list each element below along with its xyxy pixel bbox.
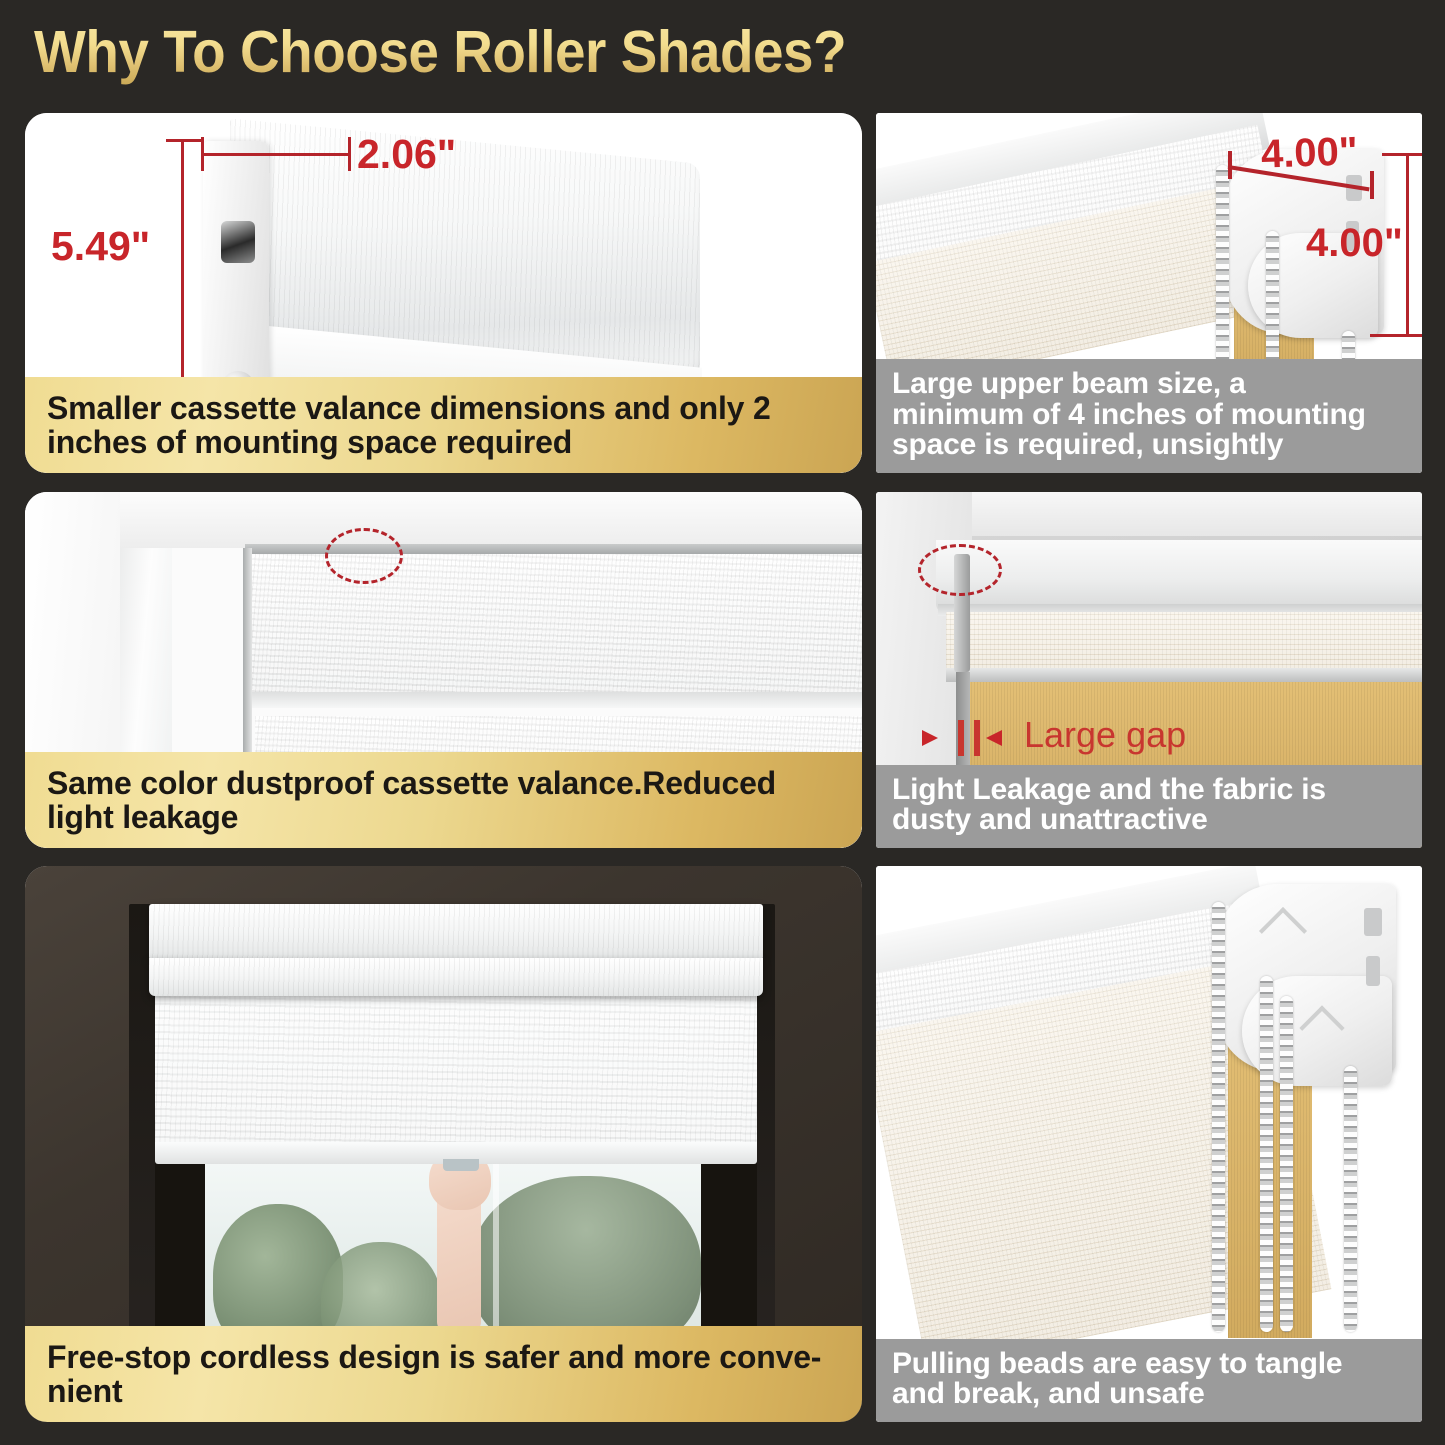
panel-5-caption-line-2: nient (47, 1374, 842, 1408)
panel-4-caption: Light Leakage and the fabric is dusty an… (876, 765, 1422, 848)
leak-highlight-circle (918, 544, 1002, 596)
bead-chain-inner (1280, 996, 1293, 1332)
panel-6-caption-line-1: Pulling beads are easy to tangle (892, 1349, 1408, 1380)
width-dimension-label: 2.06" (357, 131, 456, 178)
bracket-slot-illustration (221, 221, 255, 263)
large-gap-marker-1 (958, 720, 964, 756)
panel-large-upper-beam: 4.00" 4.00" Large upper beam size, a min… (876, 113, 1422, 473)
large-gap-label: Large gap (1024, 714, 1186, 756)
bracket-notch-lower-icon (1366, 956, 1380, 986)
panel-6-caption-line-2: and break, and unsafe (892, 1379, 1408, 1410)
height-dimension-label: 5.49" (51, 223, 150, 270)
window-mullion-illustration (493, 1156, 499, 1344)
rail-bottom-edge (946, 668, 1422, 682)
panel-2-caption-line-1: Large upper beam size, a (892, 369, 1408, 400)
bracket-notch-upper-icon (1364, 908, 1382, 936)
beam-height-dimension-label: 4.00" (1306, 221, 1403, 266)
bead-chain-mid (1260, 976, 1273, 1332)
beam-width-tick-left (1228, 151, 1232, 179)
panel-pulling-beads: Pulling beads are easy to tangle and bre… (876, 866, 1422, 1422)
height-dimension-tick-top (166, 139, 204, 142)
panel-2-caption-line-3: space is required, unsightly (892, 430, 1408, 461)
bead-chain-right (1344, 1066, 1357, 1332)
panel-cassette-valance-dimensions: 2.06" 5.49" Smaller cassette valance dim… (25, 113, 862, 473)
panel-3-caption-line-1: Same color dustproof cassette valance.Re… (47, 766, 842, 800)
tree-right-illustration (471, 1176, 701, 1344)
cassette-valance-illustration (149, 904, 763, 960)
head-rail-illustration (936, 540, 1422, 612)
large-gap-arrow-left-icon (922, 730, 938, 746)
large-gap-marker-2 (974, 720, 980, 756)
large-gap-arrow-right-icon (986, 730, 1002, 746)
panel-free-stop-cordless: Free-stop cordless design is safer and m… (25, 866, 862, 1422)
infographic-page: Why To Choose Roller Shades? 2.06" 5.49"… (0, 0, 1445, 1445)
window-molding-top-illustration (120, 492, 862, 548)
panel-4-caption-line-2: dusty and unattractive (892, 805, 1408, 836)
panel-2-caption-line-2: minimum of 4 inches of mounting (892, 400, 1408, 431)
panel-dustproof-cassette-valance: smaller gap Same color dustproof cassett… (25, 492, 862, 848)
valance-lower-lip-illustration (149, 958, 763, 996)
panel-light-leakage: Large gap Light Leakage and the fabric i… (876, 492, 1422, 848)
beam-height-dimension-line (1406, 153, 1409, 337)
panel-1-caption-line-2: inches of mounting space required (47, 425, 842, 459)
width-dimension-tick-right (348, 137, 351, 171)
panel-1-caption: Smaller cassette valance dimensions and … (25, 377, 862, 473)
valance-shadow-line (247, 692, 862, 708)
panel-6-caption: Pulling beads are easy to tangle and bre… (876, 1339, 1422, 1422)
beam-width-dimension-label: 4.00" (1260, 129, 1358, 177)
beam-height-tick-bottom (1370, 334, 1422, 337)
panel-5-caption: Free-stop cordless design is safer and m… (25, 1326, 862, 1422)
width-dimension-tick-left (201, 137, 204, 171)
panel-2-caption: Large upper beam size, a minimum of 4 in… (876, 359, 1422, 473)
window-jamb-right (701, 1156, 757, 1346)
panel-3-caption-line-2: light leakage (47, 800, 842, 834)
beam-width-tick-right (1370, 171, 1374, 199)
panel-5-caption-line-1: Free-stop cordless design is safer and m… (47, 1340, 842, 1374)
bead-chain-left (1212, 902, 1225, 1332)
panel-4-caption-line-1: Light Leakage and the fabric is (892, 775, 1408, 806)
beam-height-tick-top (1382, 153, 1422, 156)
cream-fabric-band-illustration (946, 612, 1422, 670)
panel-1-caption-line-1: Smaller cassette valance dimensions and … (47, 391, 842, 425)
width-dimension-line (201, 153, 351, 156)
pull-tab-illustration (443, 1159, 479, 1171)
page-title: Why To Choose Roller Shades? (34, 18, 846, 86)
window-jamb-left (155, 1156, 205, 1346)
panel-3-caption: Same color dustproof cassette valance.Re… (25, 752, 862, 848)
gap-highlight-circle (325, 528, 403, 584)
shade-fabric-illustration (155, 984, 757, 1159)
